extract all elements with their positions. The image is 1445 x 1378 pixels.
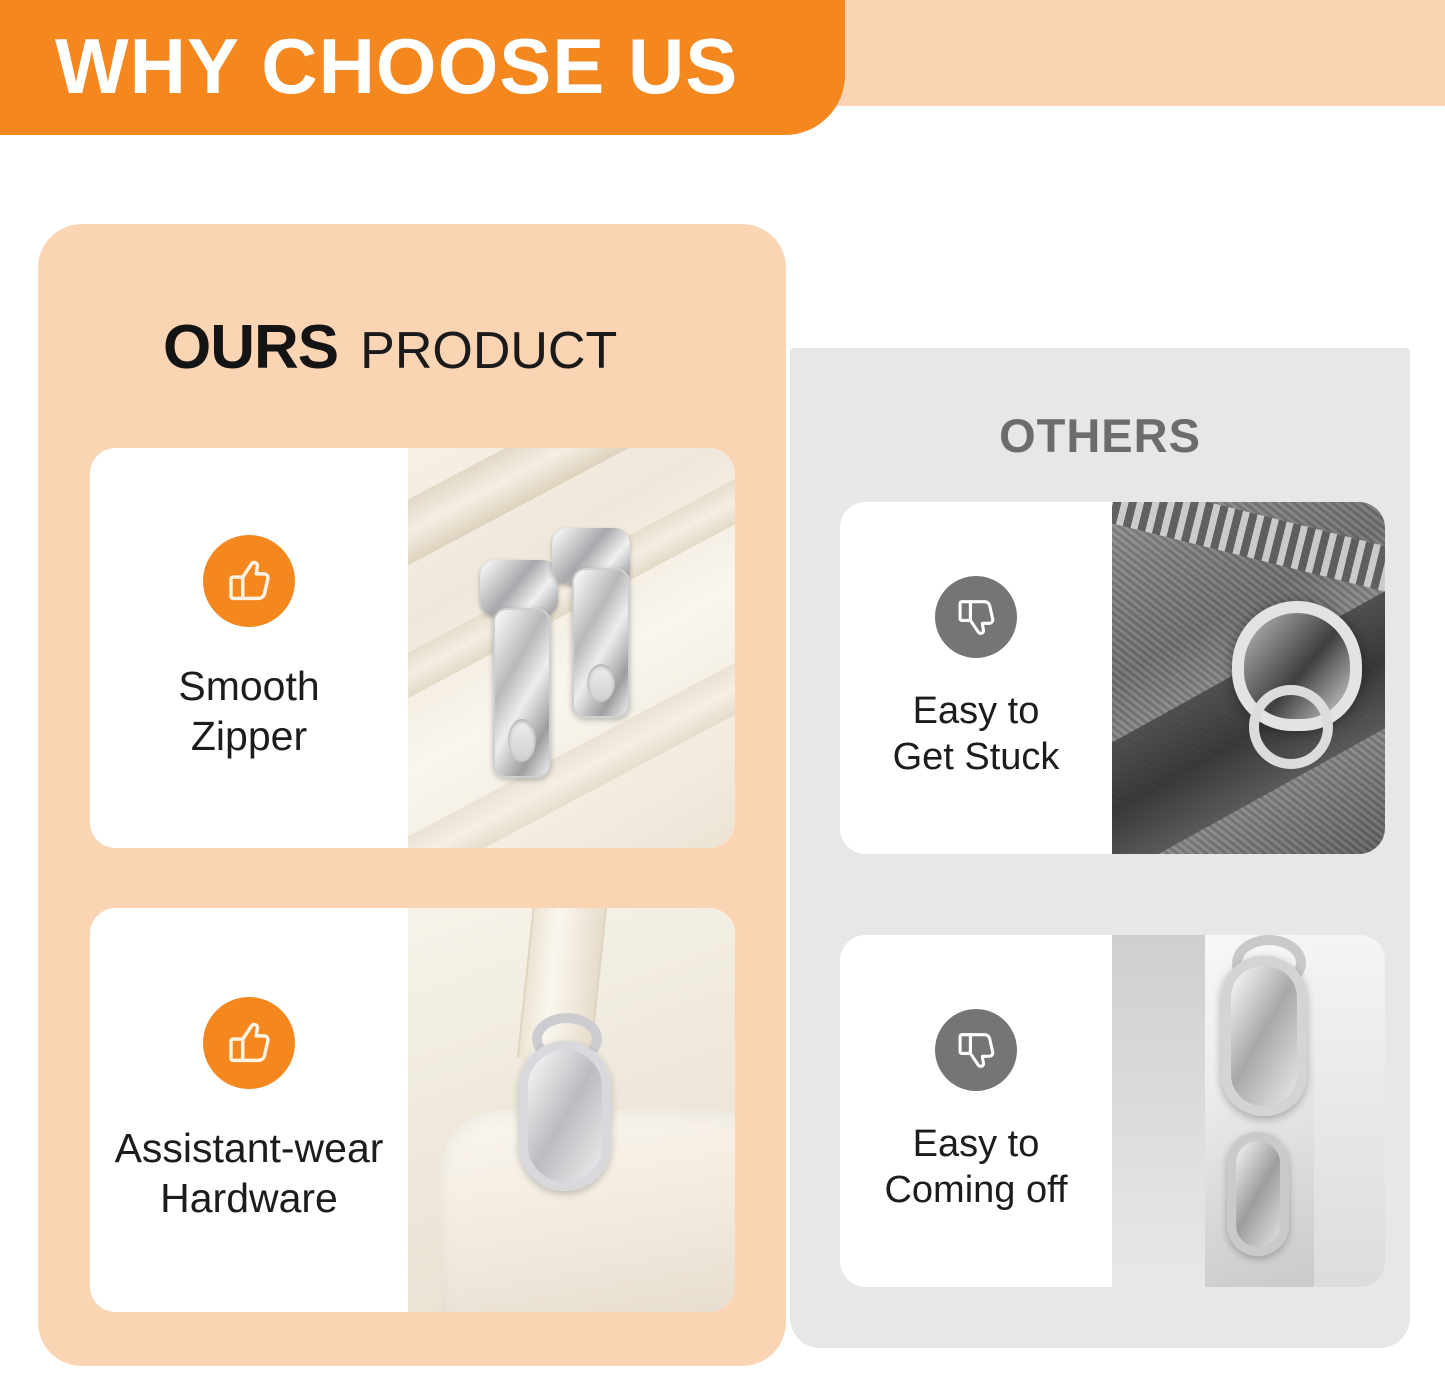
others-card-1-text: Easy to Get Stuck [840, 502, 1112, 854]
ours-card-1-label-line1: Smooth [178, 661, 319, 711]
ours-card-2-label-line1: Assistant-wear [115, 1123, 384, 1173]
ours-card-assistant-wear-hardware[interactable]: Assistant-wear Hardware [90, 908, 735, 1312]
others-card-1-label-line2: Get Stuck [893, 734, 1060, 780]
others-card-1-label-line1: Easy to [893, 688, 1060, 734]
thumbs-up-icon [203, 997, 295, 1089]
others-card-2-text: Easy to Coming off [840, 935, 1112, 1287]
others-card-1-label: Easy to Get Stuck [893, 688, 1060, 781]
others-card-easy-to-coming-off[interactable]: Easy to Coming off [840, 935, 1385, 1287]
others-card-2-label-line1: Easy to [884, 1121, 1067, 1167]
ours-heading-light: PRODUCT [360, 321, 617, 381]
ours-card-smooth-zipper[interactable]: Smooth Zipper [90, 448, 735, 848]
ours-heading: OURS PRODUCT [163, 312, 617, 383]
ours-card-1-label-line2: Zipper [178, 711, 319, 761]
thumbs-up-icon [203, 535, 295, 627]
ours-card-1-label: Smooth Zipper [178, 661, 319, 761]
page-title: WHY CHOOSE US [55, 14, 738, 118]
others-card-2-label-line2: Coming off [884, 1167, 1067, 1213]
others-card-1-image [1112, 502, 1385, 854]
others-heading: OTHERS [790, 408, 1410, 463]
ours-heading-strong: OURS [163, 312, 338, 383]
others-card-2-image [1112, 935, 1385, 1287]
thumbs-down-icon [935, 1009, 1017, 1091]
ours-card-2-text: Assistant-wear Hardware [90, 908, 408, 1312]
thumbs-down-icon [935, 576, 1017, 658]
ours-card-2-label: Assistant-wear Hardware [115, 1123, 384, 1223]
others-card-2-label: Easy to Coming off [884, 1121, 1067, 1214]
ours-card-1-text: Smooth Zipper [90, 448, 408, 848]
ours-card-2-label-line2: Hardware [115, 1173, 384, 1223]
ours-card-2-image [408, 908, 735, 1312]
ours-card-1-image [408, 448, 735, 848]
others-card-easy-to-get-stuck[interactable]: Easy to Get Stuck [840, 502, 1385, 854]
